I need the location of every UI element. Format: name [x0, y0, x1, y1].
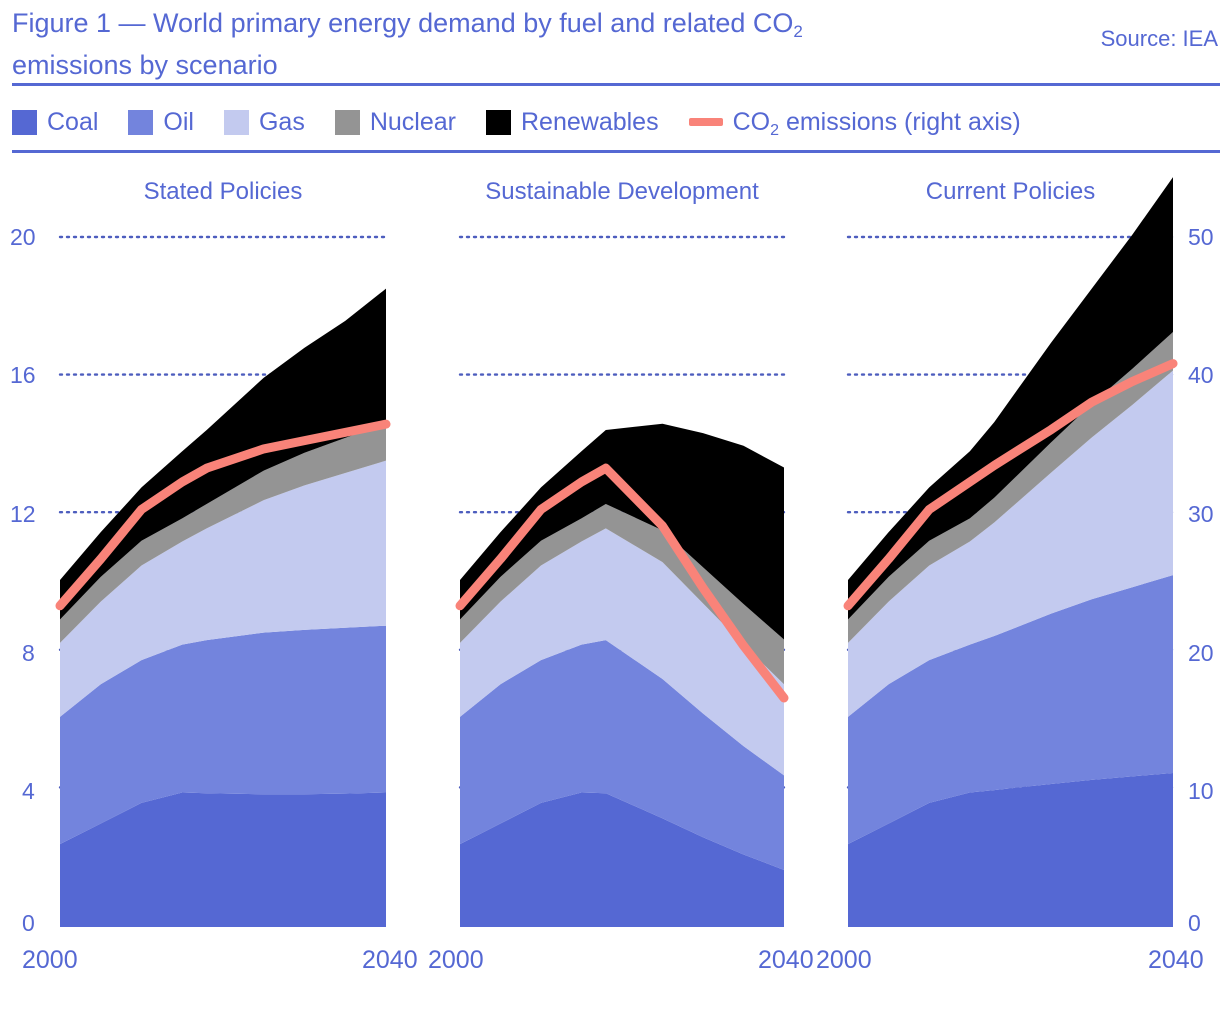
stacked-areas-group [60, 177, 1173, 925]
chart-plot-area [0, 0, 1232, 1014]
figure-root: Figure 1 — World primary energy demand b… [0, 0, 1232, 1014]
